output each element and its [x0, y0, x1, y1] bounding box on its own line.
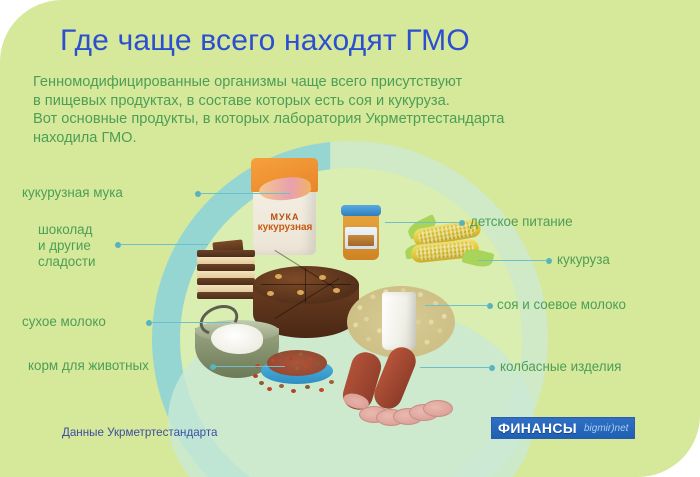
- cake-nut: [333, 288, 340, 293]
- logo-primary-text: ФИНАНСЫ: [498, 420, 577, 436]
- callout-text: сладости: [38, 254, 178, 270]
- callout-leader-chocolate: [120, 244, 208, 245]
- sausage-slice: [423, 400, 453, 417]
- callout-leader-corn-flour: [200, 193, 290, 194]
- sausage-products-image: [347, 344, 455, 410]
- cake-nut: [319, 275, 326, 280]
- callout-label-corn-flour: кукурузная мука: [22, 185, 192, 201]
- kibble-piece: [267, 387, 272, 391]
- flour-bag-label-line1: МУКА: [259, 212, 311, 222]
- food-illustration: МУКА кукурузная: [195, 158, 495, 413]
- kibble-piece: [279, 384, 284, 388]
- callout-leader-animal-feed: [215, 366, 285, 367]
- kibble-piece: [259, 381, 264, 385]
- logo-secondary-text: bigmir)net: [584, 423, 628, 434]
- intro-paragraph: Генномодифицированные организмы чаще все…: [33, 73, 673, 147]
- animal-feed-bowl-image: [261, 350, 333, 392]
- cake-nut: [275, 274, 282, 279]
- chocolate-wafer-stack-image: [197, 250, 259, 300]
- callout-text: кукуруза: [557, 252, 610, 268]
- callout-label-baby-food: детское питание: [470, 214, 573, 230]
- callout-dot-soy: [487, 303, 493, 309]
- callout-dot-sausage: [489, 365, 495, 371]
- corn-flour-bag-image: МУКА кукурузная: [253, 160, 316, 255]
- bigmir-finance-logo[interactable]: ФИНАНСЫ bigmir)net: [491, 417, 635, 439]
- kibble-piece: [305, 385, 310, 389]
- wafer-layer: [197, 292, 255, 299]
- cake-nut: [297, 290, 304, 295]
- pet-food-kibble: [267, 350, 327, 376]
- kibble-piece: [319, 388, 324, 392]
- baby-food-jar-image: [343, 212, 379, 260]
- callout-dot-baby-food: [459, 220, 465, 226]
- callout-label-corn: кукуруза: [557, 252, 610, 268]
- wafer-layer: [197, 285, 255, 292]
- sausage-slices: [359, 400, 455, 426]
- callout-text: шоколад: [38, 222, 178, 238]
- callout-leader-corn: [478, 260, 548, 261]
- intro-line-1: Генномодифицированные организмы чаще все…: [33, 73, 673, 92]
- callout-dot-corn: [546, 258, 552, 264]
- milk-glass: [382, 292, 416, 350]
- callout-leader-soy: [425, 305, 489, 306]
- callout-text: соя и соевое молоко: [497, 297, 626, 313]
- intro-line-4: находила ГМО.: [33, 129, 673, 148]
- page-title: Где чаще всего находят ГМО: [60, 24, 470, 58]
- cake-slice-line: [305, 268, 306, 302]
- callout-dot-chocolate: [115, 242, 121, 248]
- callout-label-chocolate: шоколад и другие сладости: [38, 222, 178, 270]
- kibble-piece: [329, 380, 334, 384]
- jar-lid: [341, 205, 381, 216]
- callout-leader-baby-food: [385, 222, 460, 223]
- callout-text: и другие: [38, 238, 178, 254]
- callout-label-sausage: колбасные изделия: [500, 359, 621, 375]
- callout-text: кукурузная мука: [22, 185, 192, 201]
- cake-nut: [267, 291, 274, 296]
- jar-label: [345, 227, 377, 249]
- callout-dot-corn-flour: [195, 191, 201, 197]
- callout-dot-animal-feed: [210, 364, 216, 370]
- intro-line-2: в пищевых продуктах, в составе которых е…: [33, 92, 673, 111]
- wafer-layer: [197, 264, 255, 271]
- source-credit: Данные Укрметртестандарта: [62, 426, 218, 439]
- kibble-piece: [253, 374, 258, 378]
- cake-top: [253, 266, 359, 304]
- callout-label-animal-feed: корм для животных: [28, 358, 218, 374]
- intro-line-3: Вот основные продукты, в которых лаборат…: [33, 110, 673, 129]
- callout-leader-dry-milk: [151, 322, 231, 323]
- callout-text: детское питание: [470, 214, 573, 230]
- corn-husk: [462, 247, 495, 270]
- callout-text: корм для животных: [28, 358, 218, 374]
- wafer-layer: [197, 257, 255, 264]
- infographic-poster: Где чаще всего находят ГМО Генномодифици…: [0, 0, 700, 477]
- callout-text: колбасные изделия: [500, 359, 621, 375]
- callout-dot-dry-milk: [146, 320, 152, 326]
- wafer-layer: [197, 250, 255, 257]
- wafer-layer: [197, 271, 255, 278]
- flour-bag-label-line2: кукурузная: [256, 222, 314, 233]
- callout-leader-sausage: [420, 367, 491, 368]
- callout-label-soy: соя и соевое молоко: [497, 297, 626, 313]
- kibble-piece: [291, 389, 296, 393]
- wafer-layer: [197, 278, 255, 285]
- cake-slice-line: [261, 284, 351, 285]
